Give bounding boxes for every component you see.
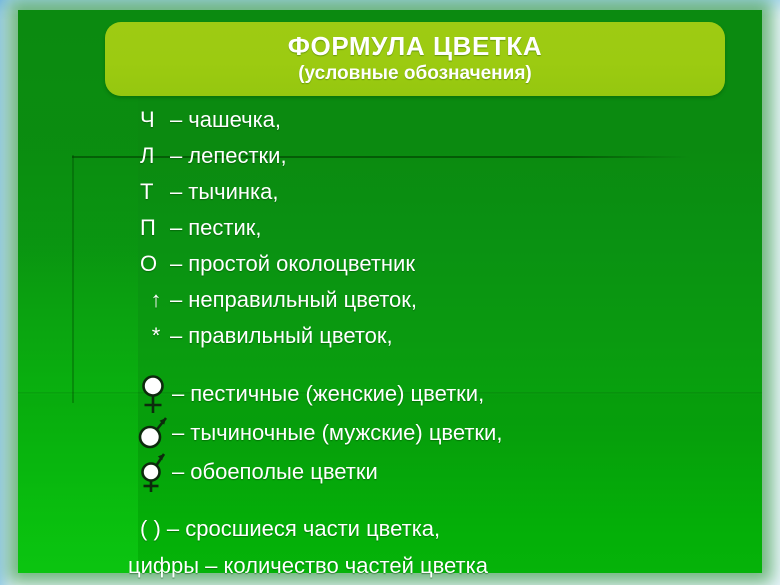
up-arrow-icon: ↑ bbox=[146, 287, 166, 313]
legend-label: простой околоцветник bbox=[188, 251, 415, 277]
legend-label: правильный цветок, bbox=[188, 323, 392, 349]
symbol-label: пестичные (женские) цветки, bbox=[190, 381, 484, 407]
symbol-item-female: – пестичные (женские) цветки, bbox=[18, 374, 762, 413]
legend-dash: – bbox=[166, 143, 188, 169]
banner-title: ФОРМУЛА ЦВЕТКА bbox=[288, 33, 543, 60]
symbol-label: обоеполые цветки bbox=[190, 459, 378, 485]
legend-symbol: Ч bbox=[140, 107, 166, 133]
legend-item-stamen: Т – тычинка, bbox=[18, 174, 762, 210]
legend-item-actinomorphic: * – правильный цветок, bbox=[18, 318, 762, 354]
banner-subtitle: (условные обозначения) bbox=[298, 63, 532, 85]
legend-symbol: О bbox=[140, 251, 166, 277]
legend-list: Ч – чашечка, Л – лепестки, Т – тычинка, … bbox=[18, 102, 762, 491]
legend-dash: – bbox=[166, 287, 188, 313]
legend-item-calyx: Ч – чашечка, bbox=[18, 102, 762, 138]
legend-dash: – bbox=[166, 251, 188, 277]
symbol-dash: – bbox=[172, 420, 190, 446]
legend-item-zygomorphic: ↑ – неправильный цветок, bbox=[18, 282, 762, 318]
legend-item-perianth: О – простой околоцветник bbox=[18, 246, 762, 282]
footer-line-fused-parts: ( ) – сросшиеся части цветка, bbox=[18, 510, 762, 547]
footer-line-digits-count: цифры – количество частей цветка bbox=[18, 547, 762, 584]
legend-symbol: Л bbox=[140, 143, 166, 169]
legend-symbol: Т bbox=[140, 179, 166, 205]
slide-canvas: ФОРМУЛА ЦВЕТКА (условные обозначения) Ч … bbox=[0, 0, 780, 585]
legend-dash: – bbox=[166, 323, 188, 349]
symbol-dash: – bbox=[172, 381, 190, 407]
asterisk-icon: * bbox=[146, 323, 166, 349]
hermaphrodite-flower-icon bbox=[136, 452, 170, 492]
female-flower-icon bbox=[136, 374, 170, 414]
symbol-item-male: – тычиночные (мужские) цветки, bbox=[18, 413, 762, 452]
legend-label: тычинка, bbox=[188, 179, 278, 205]
legend-item-petals: Л – лепестки, bbox=[18, 138, 762, 174]
legend-dash: – bbox=[166, 179, 188, 205]
legend-label: неправильный цветок, bbox=[188, 287, 417, 313]
legend-symbol: П bbox=[140, 215, 166, 241]
symbol-item-hermaphrodite: – обоеполые цветки bbox=[18, 452, 762, 491]
title-banner: ФОРМУЛА ЦВЕТКА (условные обозначения) bbox=[105, 22, 725, 96]
footer-notes: ( ) – сросшиеся части цветка, цифры – ко… bbox=[18, 510, 762, 584]
legend-label: пестик, bbox=[188, 215, 261, 241]
symbol-dash: – bbox=[172, 459, 190, 485]
legend-label: лепестки, bbox=[188, 143, 286, 169]
legend-label: чашечка, bbox=[188, 107, 281, 133]
symbol-label: тычиночные (мужские) цветки, bbox=[190, 420, 502, 446]
legend-spacer bbox=[18, 354, 762, 374]
legend-dash: – bbox=[166, 215, 188, 241]
male-flower-icon bbox=[136, 413, 170, 453]
legend-dash: – bbox=[166, 107, 188, 133]
green-panel: ФОРМУЛА ЦВЕТКА (условные обозначения) Ч … bbox=[18, 10, 762, 573]
legend-item-pistil: П – пестик, bbox=[18, 210, 762, 246]
